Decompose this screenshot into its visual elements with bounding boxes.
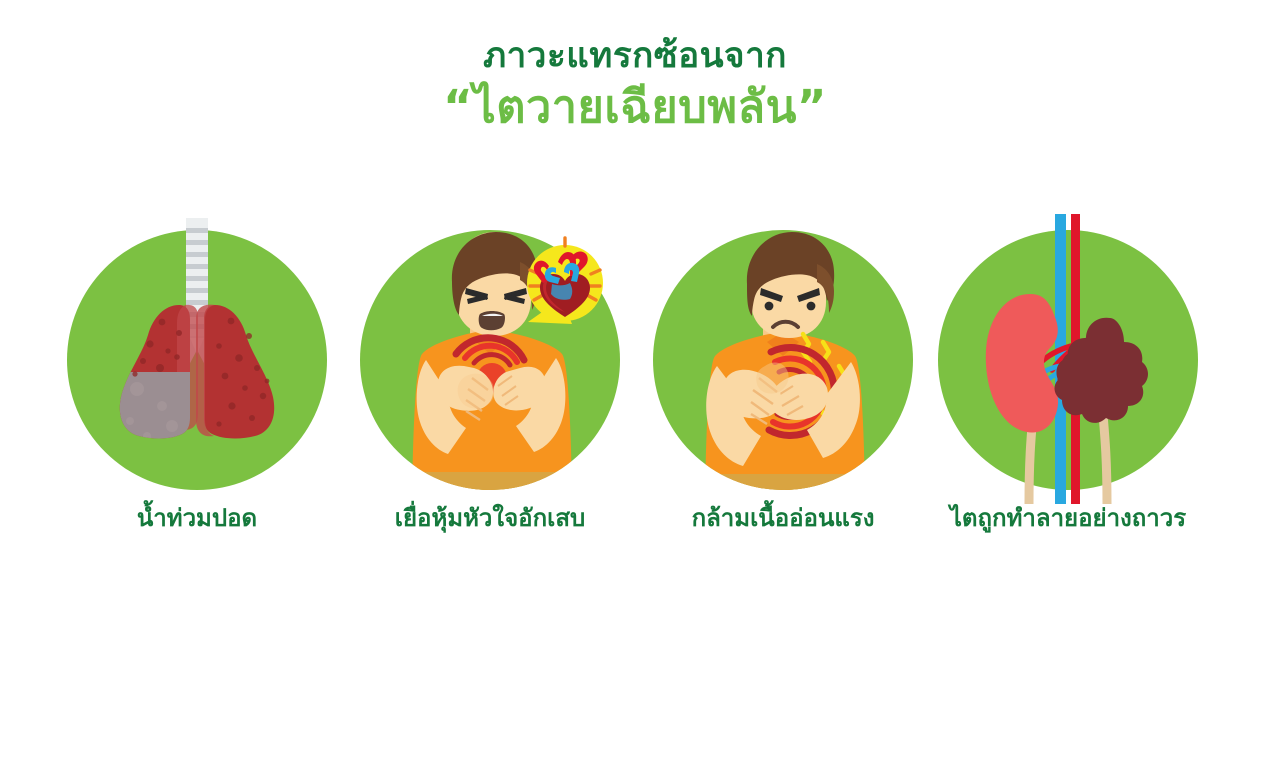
page-title: ภาวะแทรกซ้อนจาก “ไตวายเฉียบพลัน”	[0, 36, 1270, 134]
panel-caption: กล้ามเนื้ออ่อนแรง	[623, 498, 943, 537]
panel-pulmonary-edema: น้ำท่วมปอด	[67, 226, 327, 546]
title-line-1: ภาวะแทรกซ้อนจาก	[0, 36, 1270, 76]
panel-kidney-damage: ไตถูกทำลายอย่างถาวร	[938, 226, 1198, 546]
title-line-2: “ไตวายเฉียบพลัน”	[0, 80, 1270, 134]
panel-caption: ไตถูกทำลายอย่างถาวร	[908, 498, 1228, 537]
kidneys-icon	[938, 226, 1198, 494]
panel-muscle-weakness: กล้ามเนื้ออ่อนแรง	[653, 226, 913, 546]
chest-pain-lightning-icon	[653, 226, 913, 494]
lungs-icon	[67, 226, 327, 494]
panel-caption: เยื่อหุ้มหัวใจอักเสบ	[330, 498, 650, 537]
panel-caption: น้ำท่วมปอด	[37, 498, 357, 537]
panel-pericarditis: เยื่อหุ้มหัวใจอักเสบ	[360, 226, 620, 546]
infographic-canvas: ภาวะแทรกซ้อนจาก “ไตวายเฉียบพลัน”	[0, 0, 1270, 767]
chest-pain-heart-icon	[360, 226, 620, 494]
